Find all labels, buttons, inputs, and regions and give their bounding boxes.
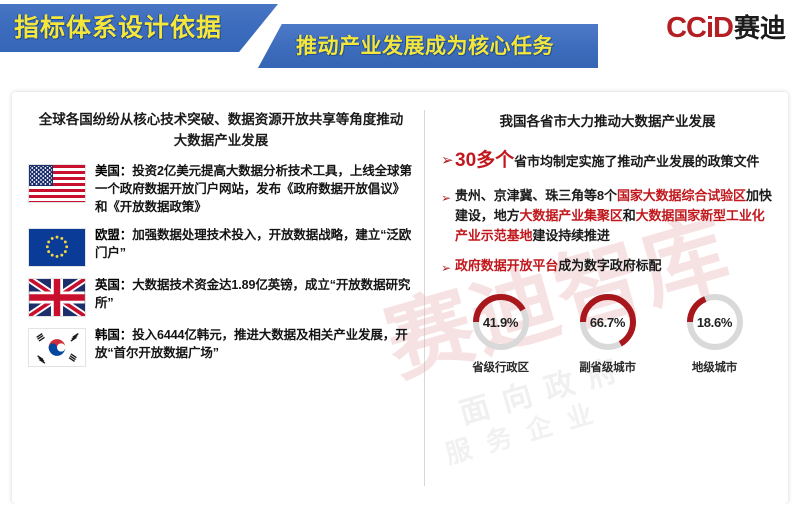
donut-category-label: 地级城市: [692, 359, 737, 375]
donut-value-label: 66.7%: [577, 291, 639, 353]
bullet-highlight-2: 大数据产业集聚区: [520, 208, 623, 223]
donut-category-label: 省级行政区: [472, 359, 529, 375]
slide-header: 指标体系设计依据 推动产业发展成为核心任务 CCiD 赛迪: [0, 0, 800, 86]
donut-ring: 41.9%: [470, 291, 532, 353]
donut-ring: 18.6%: [684, 291, 746, 353]
donut-chart-provincial: 41.9% 省级行政区: [470, 291, 532, 375]
country-description: 美国：投资2亿美元提高大数据分析技术工具，上线全球第一个政府数据开放门户网站，发…: [95, 162, 414, 217]
donut-chart-group: 41.9% 省级行政区 66.7% 副省级城市: [441, 291, 774, 375]
logo-latin-text: CCiD: [666, 14, 733, 43]
bullet-highlight-platform: 政府数据开放平台: [455, 258, 558, 273]
bullet-highlight-1: 国家大数据综合试验区: [617, 188, 746, 203]
bullet-arrow-icon: ➢: [441, 150, 455, 173]
country-detail-text: 加强数据处理技术投入，开放数据战略，建立“泛欧门户”: [95, 228, 411, 260]
left-panel-title: 全球各国纷纷从核心技术突破、数据资源开放共享等角度推动大数据产业发展: [34, 110, 408, 152]
bullet-lead-text: 贵州、京津冀、珠三角等8个: [455, 188, 617, 203]
list-item: ➢ 政府数据开放平台成为数字政府标配: [441, 256, 774, 277]
bullet-mid-2: 和: [623, 208, 636, 223]
header-banner-primary: 指标体系设计依据: [0, 4, 278, 52]
left-panel: 全球各国纷纷从核心技术突破、数据资源开放共享等角度推动大数据产业发展 美国：投资…: [12, 92, 424, 504]
donut-chart-prefecture: 18.6% 地级城市: [684, 291, 746, 375]
ccid-logo: CCiD 赛迪: [666, 14, 786, 43]
bullet-tail-text: 建设持续推进: [532, 228, 609, 243]
flag-united-kingdom-icon: [28, 278, 86, 317]
bullet-text: 30多个省市均制定实施了推动产业发展的政策文件: [455, 146, 759, 175]
country-name-label: 英国：: [95, 278, 132, 292]
country-description: 英国：大数据技术资金达1.89亿英镑，成立“开放数据研究所”: [95, 276, 414, 313]
donut-chart-sub-provincial: 66.7% 副省级城市: [577, 291, 639, 375]
bullet-rest-text: 成为数字政府标配: [558, 258, 661, 273]
bullet-arrow-icon: ➢: [441, 259, 455, 277]
logo-chinese-text: 赛迪: [734, 15, 786, 41]
country-detail-text: 投入6444亿韩元，推进大数据及相关产业发展，开放“首尔开放数据广场”: [95, 328, 408, 360]
list-item: ➢ 30多个省市均制定实施了推动产业发展的政策文件: [441, 146, 774, 175]
donut-ring: 66.7%: [577, 291, 639, 353]
bullet-rest-text: 省市均制定实施了推动产业发展的政策文件: [514, 154, 759, 169]
country-name-label: 韩国：: [95, 328, 132, 342]
country-name-label: 欧盟：: [95, 228, 132, 242]
country-detail-text: 投资2亿美元提高大数据分析技术工具，上线全球第一个政府数据开放门户网站，发布《政…: [95, 164, 412, 215]
bullet-text: 政府数据开放平台成为数字政府标配: [455, 256, 661, 276]
header-banner-secondary-text: 推动产业发展成为核心任务: [258, 36, 554, 57]
content-card: 赛迪智库 面向政府 服务企业 全球各国纷纷从核心技术突破、数据资源开放共享等角度…: [12, 92, 788, 504]
list-item: 美国：投资2亿美元提高大数据分析技术工具，上线全球第一个政府数据开放门户网站，发…: [28, 162, 414, 217]
donut-value-label: 18.6%: [684, 291, 746, 353]
bullet-arrow-icon: ➢: [441, 189, 455, 207]
list-item: 韩国：投入6444亿韩元，推进大数据及相关产业发展，开放“首尔开放数据广场”: [28, 326, 414, 367]
right-panel: 我国各省市大力推动大数据产业发展 ➢ 30多个省市均制定实施了推动产业发展的政策…: [425, 92, 788, 504]
flag-european-union-icon: [28, 228, 86, 267]
header-banner-secondary: 推动产业发展成为核心任务: [258, 24, 598, 68]
bullet-text: 贵州、京津冀、珠三角等8个国家大数据综合试验区加快建设，地方大数据产业集聚区和大…: [455, 186, 774, 246]
bullet-highlight-number: 30多个: [455, 150, 514, 171]
donut-category-label: 副省级城市: [579, 359, 636, 375]
donut-value-label: 41.9%: [470, 291, 532, 353]
right-panel-title: 我国各省市大力推动大数据产业发展: [441, 112, 774, 132]
slide-root: 指标体系设计依据 推动产业发展成为核心任务 CCiD 赛迪 赛迪智库 面向政府 …: [0, 0, 800, 517]
flag-south-korea-icon: [28, 328, 86, 367]
flag-united-states-icon: [28, 164, 86, 203]
country-detail-text: 大数据技术资金达1.89亿英镑，成立“开放数据研究所”: [95, 278, 410, 310]
header-banner-primary-text: 指标体系设计依据: [0, 16, 222, 41]
list-item: ➢ 贵州、京津冀、珠三角等8个国家大数据综合试验区加快建设，地方大数据产业集聚区…: [441, 186, 774, 246]
country-name-label: 美国：: [95, 164, 132, 178]
footer-strip: [0, 504, 800, 517]
country-description: 欧盟：加强数据处理技术投入，开放数据战略，建立“泛欧门户”: [95, 226, 414, 263]
country-description: 韩国：投入6444亿韩元，推进大数据及相关产业发展，开放“首尔开放数据广场”: [95, 326, 414, 363]
list-item: 欧盟：加强数据处理技术投入，开放数据战略，建立“泛欧门户”: [28, 226, 414, 267]
list-item: 英国：大数据技术资金达1.89亿英镑，成立“开放数据研究所”: [28, 276, 414, 317]
